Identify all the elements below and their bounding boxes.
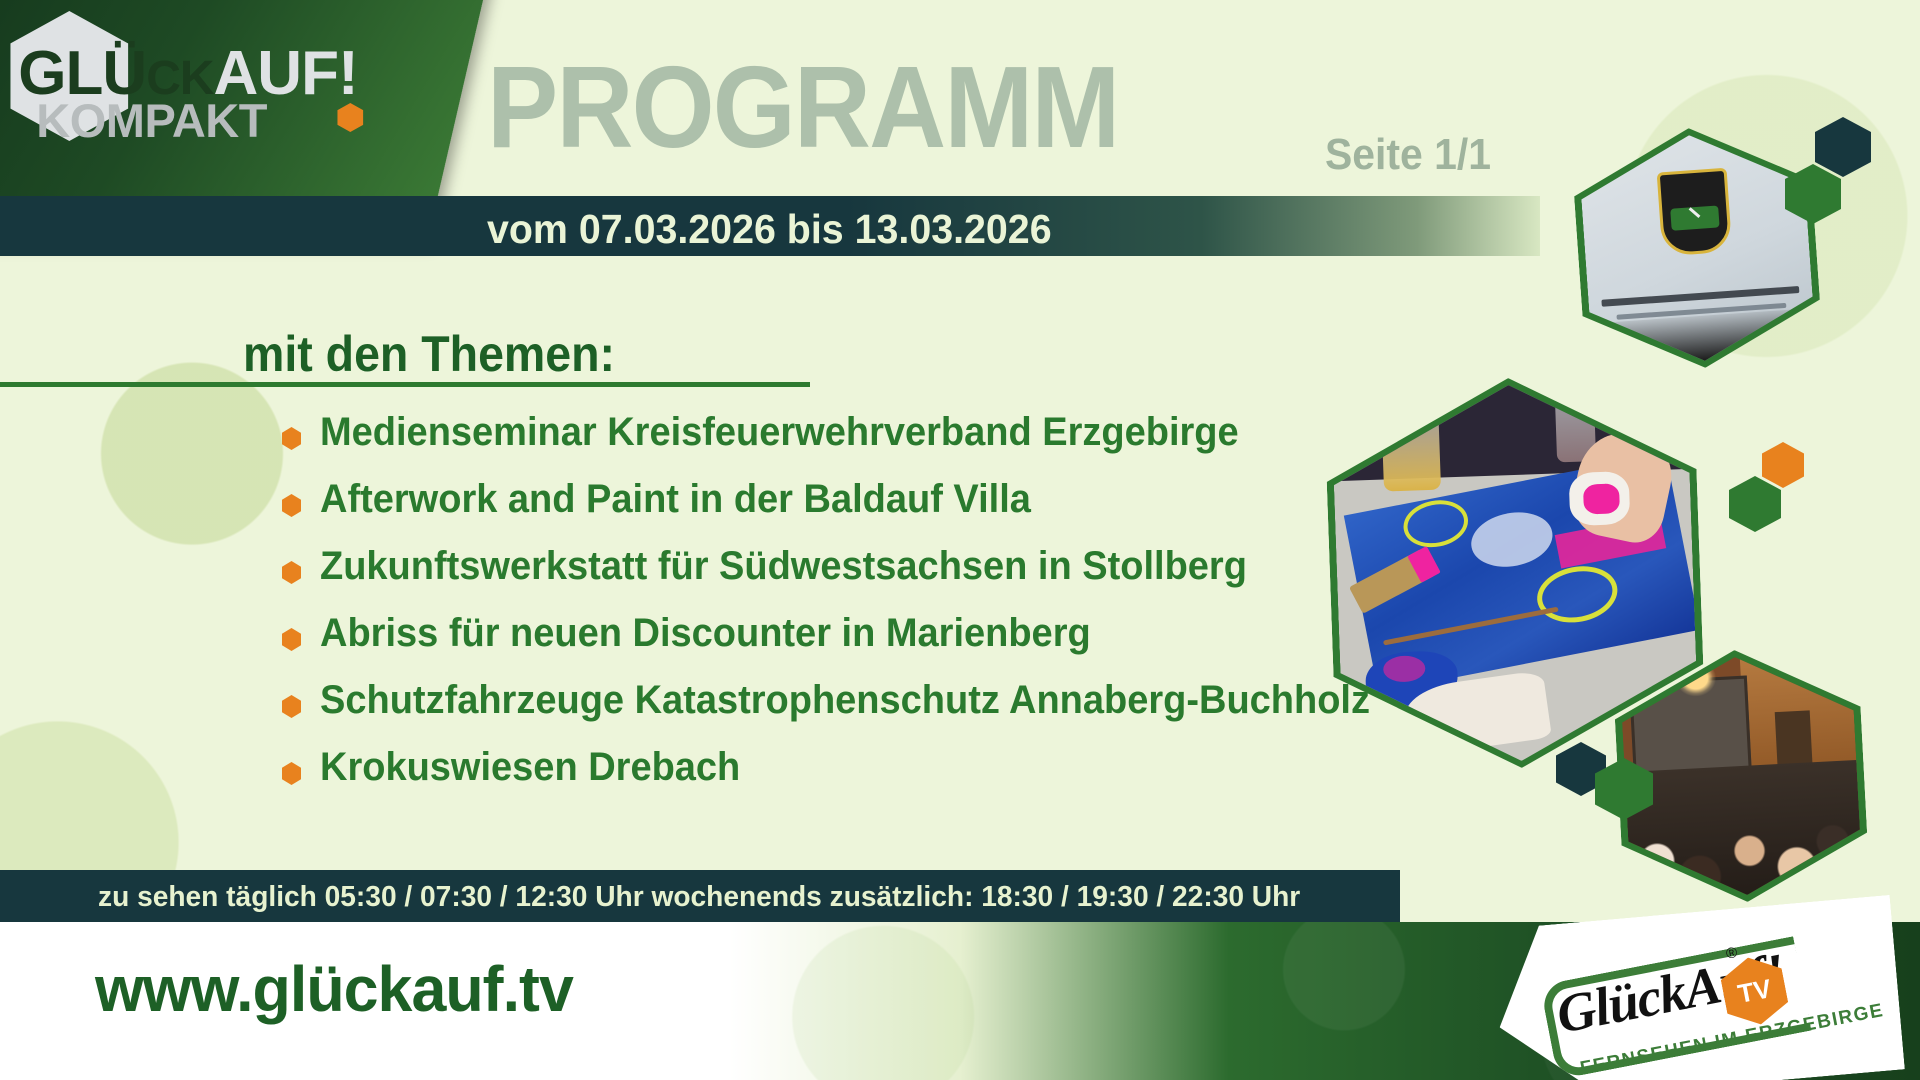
decorative-hexagon-icon: [1729, 476, 1781, 532]
broadcast-times-text: zu sehen täglich 05:30 / 07:30 / 12:30 U…: [98, 881, 1300, 914]
topics-heading-underline: [0, 382, 810, 387]
list-item: Schutzfahrzeuge Katastrophenschutz Annab…: [282, 673, 1462, 740]
list-item: Krokuswiesen Drebach: [282, 740, 1462, 807]
decorative-hexagon-icon: [1762, 442, 1804, 488]
bullet-hexagon-icon: [282, 762, 301, 785]
page-title: PROGRAMM: [487, 52, 1118, 162]
kreisfeuerwehrverband-banner-photo: [1570, 120, 1824, 376]
topic-label: Zukunftswerkstatt für Südwestsachsen in …: [320, 539, 1247, 593]
bullet-hexagon-icon: [282, 427, 301, 450]
bullet-hexagon-icon: [282, 695, 301, 718]
page-indicator: Seite 1/1: [1325, 130, 1491, 180]
logo-inner: GLÜCKAUF! KOMPAKT: [0, 5, 422, 175]
bullet-hexagon-icon: [282, 561, 301, 584]
list-item: Abriss für neuen Discounter in Marienber…: [282, 606, 1462, 673]
topic-label: Afterwork and Paint in der Baldauf Villa: [320, 472, 1031, 526]
topic-label: Medienseminar Kreisfeuerwehrverband Erzg…: [320, 405, 1239, 459]
decorative-hexagon-icon: [1815, 117, 1871, 177]
topic-label: Abriss für neuen Discounter in Marienber…: [320, 606, 1091, 660]
list-item: Afterwork and Paint in der Baldauf Villa: [282, 472, 1462, 539]
list-item: Zukunftswerkstatt für Südwestsachsen in …: [282, 539, 1462, 606]
topic-label: Schutzfahrzeuge Katastrophenschutz Annab…: [320, 673, 1370, 727]
bullet-hexagon-icon: [282, 628, 301, 651]
logo-kompakt: KOMPAKT: [36, 97, 267, 144]
topic-label: Krokuswiesen Drebach: [320, 740, 740, 794]
topics-heading: mit den Themen:: [243, 325, 615, 383]
website-url[interactable]: www.glückauf.tv: [95, 952, 573, 1026]
list-item: Medienseminar Kreisfeuerwehrverband Erzg…: [282, 405, 1462, 472]
date-range-text: vom 07.03.2026 bis 13.03.2026: [487, 206, 1052, 253]
fire-brigade-crest-icon: [1657, 168, 1733, 257]
topics-list: Medienseminar Kreisfeuerwehrverband Erzg…: [282, 405, 1462, 807]
bullet-hexagon-icon: [282, 494, 301, 517]
program-poster: GLÜCKAUF! KOMPAKT PROGRAMM Seite 1/1 vom…: [0, 0, 1920, 1080]
